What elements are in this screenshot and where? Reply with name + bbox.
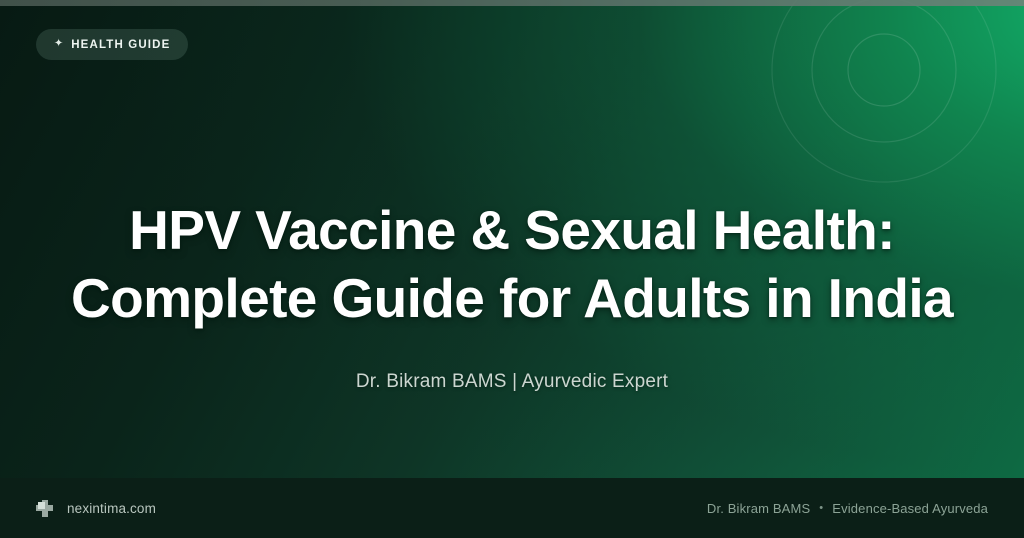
footer-separator-dot: • [819,502,823,514]
page-subtitle: Dr. Bikram BAMS | Ayurvedic Expert [40,371,984,393]
badge-label: HEALTH GUIDE [71,39,170,51]
slide-footer: nexintima.com Dr. Bikram BAMS • Evidence… [0,478,1024,538]
footer-brand: nexintima.com [36,500,156,517]
health-guide-badge: ✦ HEALTH GUIDE [36,29,188,60]
footer-tagline: Evidence-Based Ayurveda [832,501,988,516]
footer-site-name: nexintima.com [67,501,156,516]
title-block: HPV Vaccine & Sexual Health: Complete Gu… [0,196,1024,393]
medical-cross-logo-icon [36,500,53,517]
footer-author: Dr. Bikram BAMS [707,501,810,516]
sparkle-icon: ✦ [54,39,63,50]
footer-credits: Dr. Bikram BAMS • Evidence-Based Ayurved… [707,501,988,516]
top-accent-strip [0,0,1024,6]
presentation-slide: ✦ HEALTH GUIDE HPV Vaccine & Sexual Heal… [0,0,1024,538]
page-title: HPV Vaccine & Sexual Health: Complete Gu… [40,196,984,332]
